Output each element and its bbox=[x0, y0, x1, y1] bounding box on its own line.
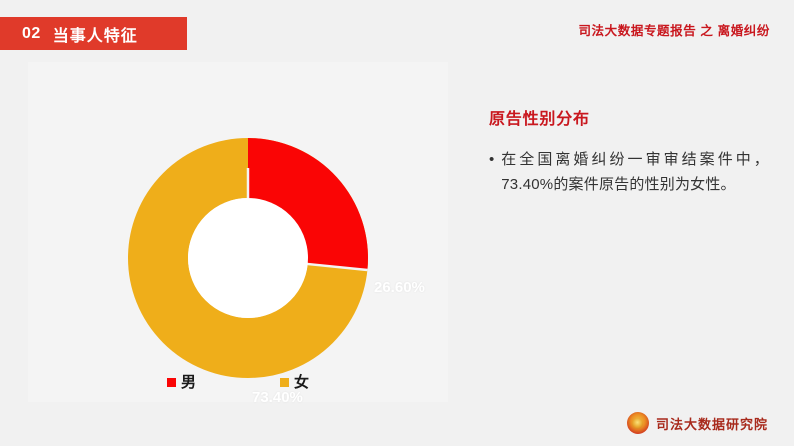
section-title: 当事人特征 bbox=[53, 22, 138, 46]
legend-label-male: 男 bbox=[181, 375, 196, 390]
chart-legend: 男 女 bbox=[28, 367, 448, 397]
footer-logo-text: 司法大数据研究院 bbox=[656, 414, 768, 433]
national-emblem-icon bbox=[627, 412, 649, 434]
legend-item-female[interactable]: 女 bbox=[280, 375, 309, 390]
donut-chart-svg bbox=[128, 138, 368, 378]
donut-chart: 26.60% 73.40% bbox=[128, 138, 368, 378]
bullet-point-icon: • bbox=[489, 147, 494, 172]
insight-title: 原告性别分布 bbox=[489, 105, 769, 129]
donut-hole bbox=[188, 198, 308, 318]
chart-panel: 26.60% 73.40% 男 女 bbox=[28, 62, 448, 402]
insight-body-text: 在全国离婚纠纷一审审结案件中，73.40%的案件原告的性别为女性。 bbox=[501, 147, 769, 197]
donut-label-male: 26.60% bbox=[374, 279, 425, 296]
section-banner: 02 当事人特征 bbox=[0, 17, 187, 50]
section-number: 02 bbox=[22, 25, 41, 43]
insight-bullet: • 在全国离婚纠纷一审审结案件中，73.40%的案件原告的性别为女性。 bbox=[489, 147, 769, 197]
footer-logo: 司法大数据研究院 bbox=[627, 412, 768, 434]
legend-swatch-male-icon bbox=[167, 378, 176, 387]
slide-canvas: 02 当事人特征 司法大数据专题报告 之 离婚纠纷 26.60% 73.40% bbox=[0, 0, 794, 446]
legend-swatch-female-icon bbox=[280, 378, 289, 387]
legend-item-male[interactable]: 男 bbox=[167, 375, 196, 390]
legend-label-female: 女 bbox=[294, 375, 309, 390]
report-title: 司法大数据专题报告 之 离婚纠纷 bbox=[578, 20, 770, 39]
insight-panel: 原告性别分布 • 在全国离婚纠纷一审审结案件中，73.40%的案件原告的性别为女… bbox=[489, 105, 769, 197]
